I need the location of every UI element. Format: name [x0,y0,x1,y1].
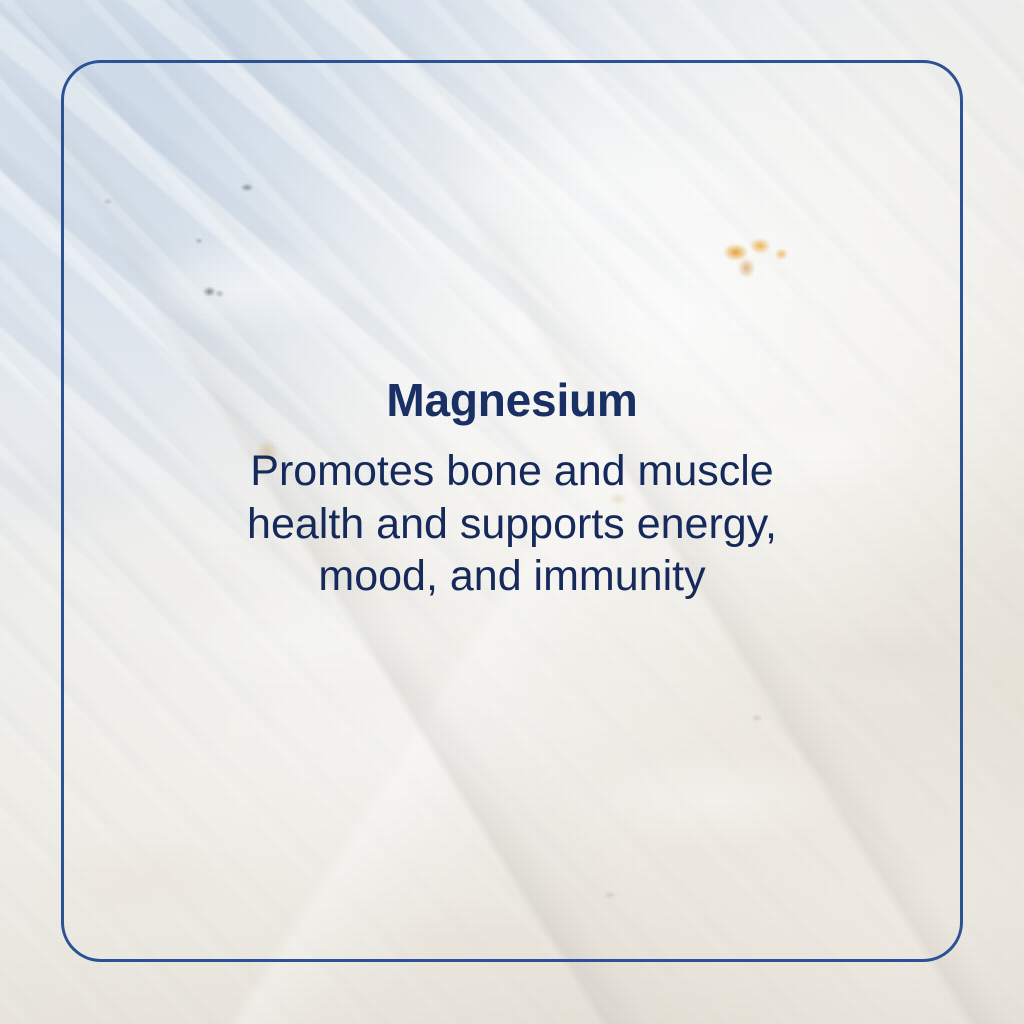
promo-card-canvas: Magnesium Promotes bone and muscle healt… [0,0,1024,1024]
card-border-frame [61,60,963,962]
